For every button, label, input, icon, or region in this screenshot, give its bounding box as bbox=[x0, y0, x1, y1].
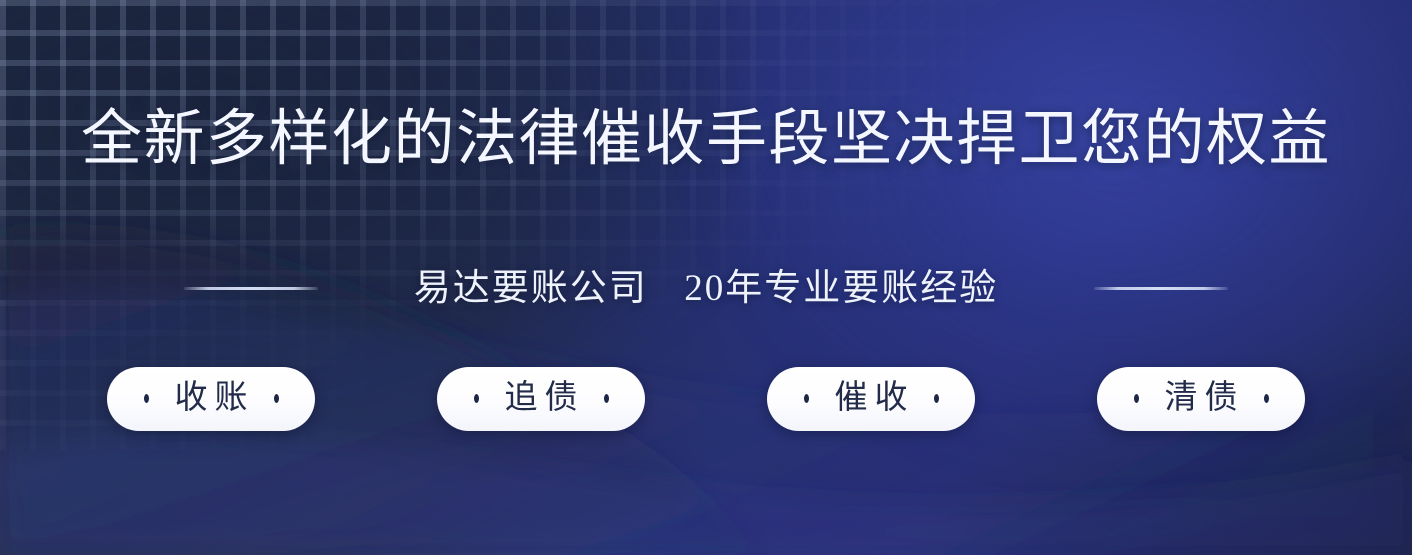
service-pill-label: 收账 bbox=[168, 382, 255, 415]
service-pill-shouzhang[interactable]: 收账 bbox=[107, 367, 315, 431]
dot-icon-left bbox=[1134, 394, 1139, 403]
service-pill-zhuizhai[interactable]: 追债 bbox=[437, 367, 645, 431]
dot-icon-right bbox=[604, 394, 609, 403]
dot-icon-left bbox=[474, 394, 479, 403]
dot-icon-left bbox=[144, 394, 149, 403]
service-pill-label: 清债 bbox=[1158, 382, 1245, 415]
service-pill-label: 催收 bbox=[828, 382, 915, 415]
subtitle-row: 易达要账公司 20年专业要账经验 bbox=[0, 270, 1412, 307]
subtitle: 易达要账公司 20年专业要账经验 bbox=[414, 270, 999, 307]
divider-line-left bbox=[184, 287, 318, 290]
service-pill-row: 收账 追债 催收 清债 bbox=[107, 367, 1305, 431]
service-pill-label: 追债 bbox=[498, 382, 585, 415]
experience-text: 20年专业要账经验 bbox=[684, 268, 998, 309]
company-name: 易达要账公司 bbox=[414, 268, 648, 309]
dot-icon-right bbox=[934, 394, 939, 403]
promo-banner: 全新多样化的法律催收手段坚决捍卫您的权益 易达要账公司 20年专业要账经验 收账… bbox=[0, 0, 1412, 555]
divider-line-right bbox=[1094, 287, 1228, 290]
banner-content: 全新多样化的法律催收手段坚决捍卫您的权益 易达要账公司 20年专业要账经验 收账… bbox=[0, 0, 1412, 555]
page-title: 全新多样化的法律催收手段坚决捍卫您的权益 bbox=[81, 109, 1331, 170]
service-pill-qingzhai[interactable]: 清债 bbox=[1097, 367, 1305, 431]
dot-icon-left bbox=[804, 394, 809, 403]
service-pill-cuishou[interactable]: 催收 bbox=[767, 367, 975, 431]
dot-icon-right bbox=[1264, 394, 1269, 403]
dot-icon-right bbox=[274, 394, 279, 403]
